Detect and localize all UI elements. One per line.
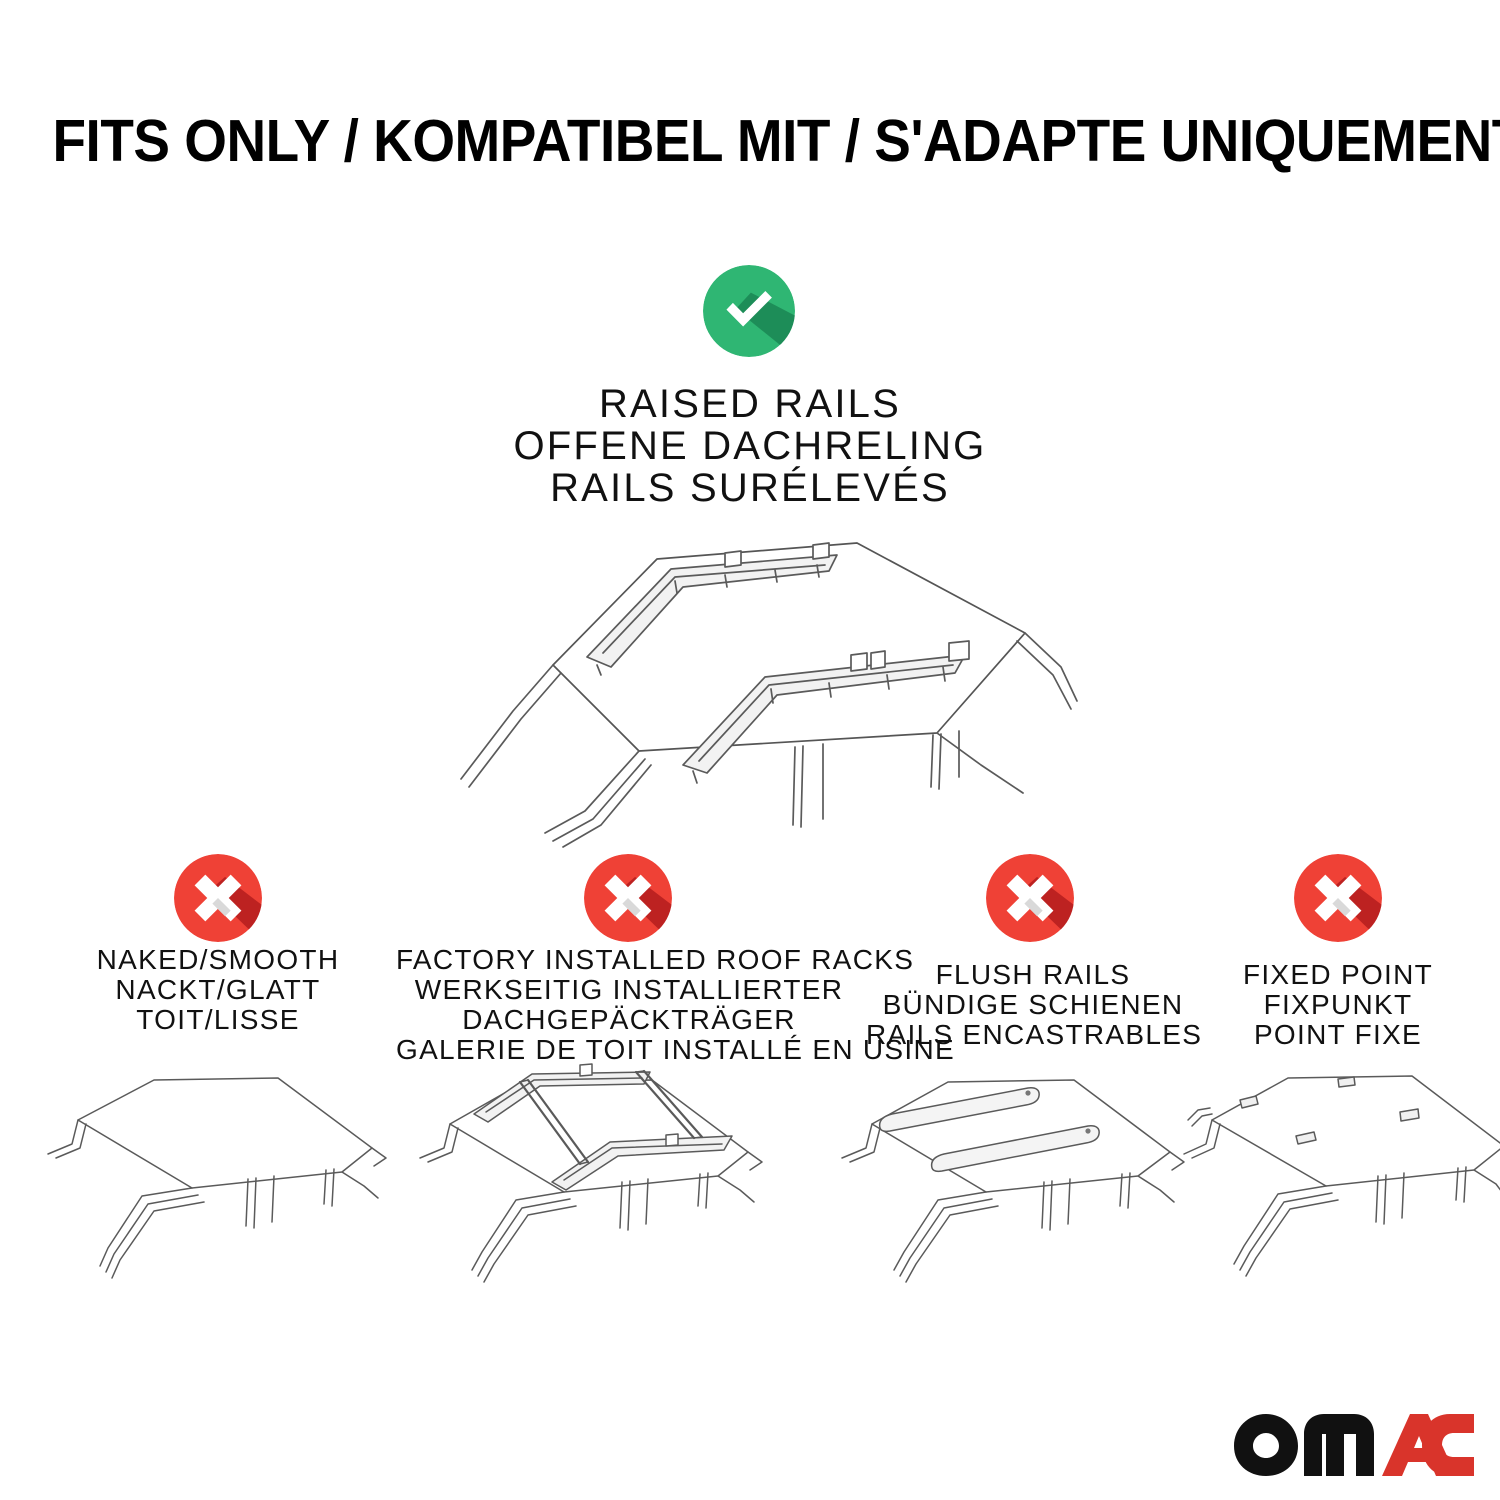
label-line: FIXPUNKT [1192,990,1484,1020]
cross-icon [986,854,1074,942]
fixed-point-label: FIXED POINT FIXPUNKT POINT FIXE [1192,960,1484,1050]
compatibility-infographic: FITS ONLY / KOMPATIBEL MIT / S'ADAPTE UN… [0,0,1500,1500]
label-line: FACTORY INSTALLED ROOF RACKS [396,945,862,975]
compatible-label-line: OFFENE DACHRELING [0,425,1500,467]
raised-rails-roof-drawing [425,515,1085,825]
label-line: DACHGEPÄCKTRÄGER [396,1005,862,1035]
compatible-label: RAISED RAILS OFFENE DACHRELING RAILS SUR… [0,383,1500,509]
label-line: POINT FIXE [1192,1020,1484,1050]
page-title: FITS ONLY / KOMPATIBEL MIT / S'ADAPTE UN… [53,108,1448,174]
naked-roof-drawing [42,1062,402,1292]
label-line: TOIT/LISSE [58,1005,378,1035]
check-icon [703,265,795,357]
flush-rails-label: FLUSH RAILS BÜNDIGE SCHIENEN RAILS ENCAS… [866,960,1200,1050]
flush-rails-drawing [832,1062,1212,1292]
label-line: RAILS ENCASTRABLES [866,1020,1200,1050]
label-line: NAKED/SMOOTH [58,945,378,975]
label-line: BÜNDIGE SCHIENEN [866,990,1200,1020]
cross-icon [584,854,672,942]
label-line: WERKSEITIG INSTALLIERTER [396,975,862,1005]
compatible-label-line: RAISED RAILS [0,383,1500,425]
cross-icon [1294,854,1382,942]
naked-smooth-label: NAKED/SMOOTH NACKT/GLATT TOIT/LISSE [58,945,378,1035]
label-line: FLUSH RAILS [866,960,1200,990]
compatible-label-line: RAILS SURÉLEVÉS [0,467,1500,509]
factory-roof-racks-label: FACTORY INSTALLED ROOF RACKS WERKSEITIG … [396,945,862,1065]
omac-logo [1232,1412,1476,1478]
cross-icon [174,854,262,942]
label-line: FIXED POINT [1192,960,1484,990]
label-line: NACKT/GLATT [58,975,378,1005]
factory-roof-racks-drawing [412,1060,792,1292]
fixed-point-roof-drawing [1182,1062,1500,1292]
